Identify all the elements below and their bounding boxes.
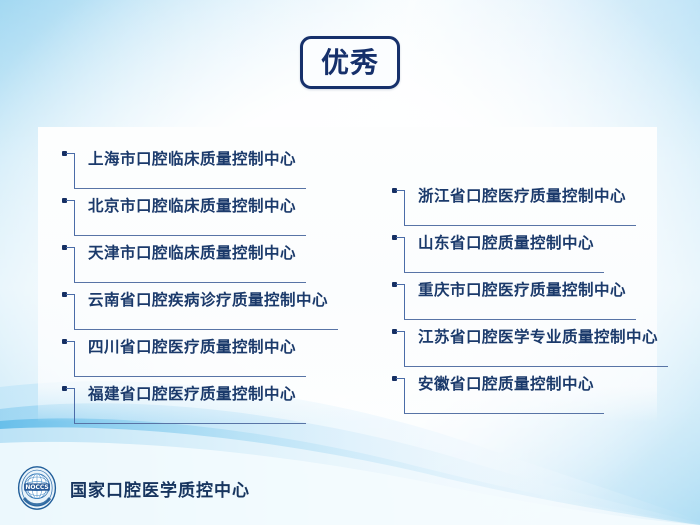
- connector-vertical: [404, 190, 405, 225]
- item-underline: [404, 413, 604, 414]
- item-underline: [74, 423, 306, 424]
- item-underline: [404, 272, 604, 273]
- award-list-item[interactable]: 江苏省口腔医学专业质量控制中心: [392, 326, 672, 373]
- connector-vertical: [404, 331, 405, 366]
- noccs-logo-icon: NOCCS: [14, 465, 60, 511]
- connector-vertical: [74, 247, 75, 282]
- award-list-left-column: 上海市口腔临床质量控制中心北京市口腔临床质量控制中心天津市口腔临床质量控制中心云…: [62, 148, 362, 430]
- slide-title-box: 优秀: [300, 36, 400, 89]
- award-list-item-label: 北京市口腔临床质量控制中心: [88, 195, 296, 217]
- award-list-item[interactable]: 天津市口腔临床质量控制中心: [62, 242, 362, 289]
- award-list-item-label: 浙江省口腔医疗质量控制中心: [418, 185, 626, 207]
- award-list-item-label: 重庆市口腔医疗质量控制中心: [418, 279, 626, 301]
- noccs-logo-text: NOCCS: [25, 484, 48, 491]
- award-list-item-label: 云南省口腔疾病诊疗质量控制中心: [88, 289, 328, 311]
- item-underline: [74, 188, 306, 189]
- award-list-item[interactable]: 福建省口腔医疗质量控制中心: [62, 383, 362, 430]
- item-underline: [74, 282, 306, 283]
- connector-vertical: [74, 294, 75, 329]
- connector-vertical: [404, 284, 405, 319]
- item-underline: [404, 366, 668, 367]
- award-list-item[interactable]: 上海市口腔临床质量控制中心: [62, 148, 362, 195]
- connector-vertical: [74, 341, 75, 376]
- award-list-item[interactable]: 安徽省口腔质量控制中心: [392, 373, 672, 420]
- organization-name: 国家口腔医学质控中心: [70, 476, 250, 501]
- award-list-item[interactable]: 浙江省口腔医疗质量控制中心: [392, 185, 672, 232]
- award-list-item[interactable]: 北京市口腔临床质量控制中心: [62, 195, 362, 242]
- award-list-item-label: 山东省口腔质量控制中心: [418, 232, 594, 254]
- award-list-right-column: 浙江省口腔医疗质量控制中心山东省口腔质量控制中心重庆市口腔医疗质量控制中心江苏省…: [392, 185, 672, 420]
- connector-vertical: [74, 153, 75, 188]
- award-list-item-label: 天津市口腔临床质量控制中心: [88, 242, 296, 264]
- item-underline: [74, 376, 306, 377]
- connector-vertical: [404, 237, 405, 272]
- item-underline: [74, 329, 338, 330]
- award-list-item[interactable]: 山东省口腔质量控制中心: [392, 232, 672, 279]
- page-title: 优秀: [321, 49, 379, 77]
- slide-canvas: 优秀 上海市口腔临床质量控制中心北京市口腔临床质量控制中心天津市口腔临床质量控制…: [0, 0, 700, 525]
- connector-vertical: [404, 378, 405, 413]
- item-underline: [404, 319, 636, 320]
- award-list-item-label: 江苏省口腔医学专业质量控制中心: [418, 326, 658, 348]
- award-list-item[interactable]: 四川省口腔医疗质量控制中心: [62, 336, 362, 383]
- award-list-item[interactable]: 重庆市口腔医疗质量控制中心: [392, 279, 672, 326]
- connector-vertical: [74, 200, 75, 235]
- award-list-item-label: 安徽省口腔质量控制中心: [418, 373, 594, 395]
- item-underline: [404, 225, 636, 226]
- award-list-item-label: 四川省口腔医疗质量控制中心: [88, 336, 296, 358]
- award-list-item-label: 福建省口腔医疗质量控制中心: [88, 383, 296, 405]
- item-underline: [74, 235, 306, 236]
- award-list-item[interactable]: 云南省口腔疾病诊疗质量控制中心: [62, 289, 362, 336]
- footer: NOCCS 国家口腔医学质控中心: [14, 465, 250, 511]
- award-list-item-label: 上海市口腔临床质量控制中心: [88, 148, 296, 170]
- connector-vertical: [74, 388, 75, 423]
